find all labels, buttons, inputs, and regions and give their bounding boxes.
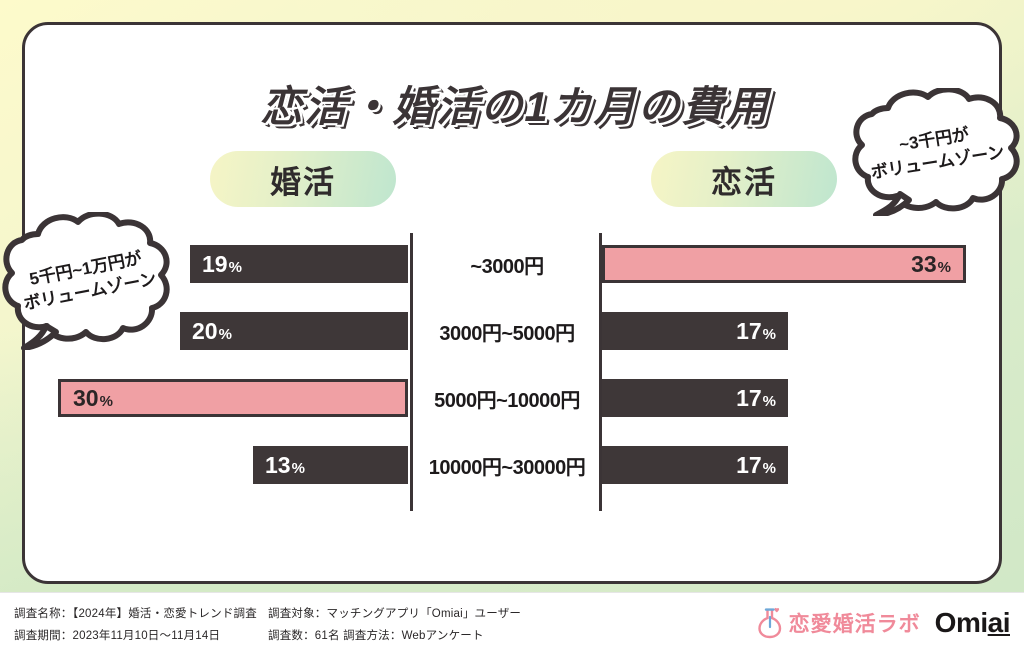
omiai-logo-text-a: Omi	[935, 607, 988, 638]
bar-left-1-value: 20%	[192, 320, 232, 343]
survey-meta-col-1: 調査名称：【2024年】婚活・恋愛トレンド調査 調査期間：2023年11月10日…	[14, 603, 257, 648]
renai-konkatsu-lab-logo: 恋愛婚活ラボ	[757, 607, 921, 639]
callout-bubble-left: 5千円~1万円が ボリュームゾーン	[2, 212, 174, 350]
infographic-stage: 恋活・婚活の1カ月の費用 婚活 恋活 19% ~3000円 33%	[0, 0, 1024, 657]
bar-left-2-value: 30%	[73, 387, 113, 410]
bar-right-2: 17%	[602, 379, 788, 417]
category-label-0: ~3000円	[413, 233, 601, 295]
category-label-1: 3000円~5000円	[413, 300, 601, 362]
category-label-3: 10000円~30000円	[413, 434, 601, 496]
survey-name: 調査名称：【2024年】婚活・恋愛トレンド調査	[14, 603, 257, 625]
omiai-logo: Omiai	[935, 607, 1010, 639]
logo-group: 恋愛婚活ラボ Omiai	[757, 607, 1010, 639]
bar-left-3-value: 13%	[265, 454, 305, 477]
bar-right-0-value: 33%	[911, 253, 951, 276]
bar-left-1: 20%	[180, 312, 408, 350]
bar-right-3-value: 17%	[736, 454, 776, 477]
bar-right-3: 17%	[602, 446, 788, 484]
bar-right-0: 33%	[602, 245, 966, 283]
survey-meta-col-2: 調査対象：マッチングアプリ「Omiai」ユーザー 調査数：61名 調査方法：We…	[268, 603, 521, 648]
lab-logo-text: 恋愛婚活ラボ	[789, 608, 921, 638]
bar-right-1: 17%	[602, 312, 788, 350]
omiai-logo-text-b: ai	[988, 607, 1010, 638]
survey-period: 調査期間：2023年11月10日〜11月14日	[14, 625, 257, 647]
callout-bubble-right: ~3千円が ボリュームゾーン	[848, 88, 1024, 216]
bar-left-0: 19%	[190, 245, 408, 283]
survey-count-method: 調査数：61名 調査方法：Webアンケート	[268, 625, 521, 647]
bar-left-0-value: 19%	[202, 253, 242, 276]
chart-row: 13% 10000円~30000円 17%	[25, 434, 1005, 496]
category-label-2: 5000円~10000円	[413, 367, 601, 429]
bar-right-1-value: 17%	[736, 320, 776, 343]
bar-right-2-value: 17%	[736, 387, 776, 410]
footer: 調査名称：【2024年】婚活・恋愛トレンド調査 調査期間：2023年11月10日…	[0, 592, 1024, 658]
chart-row: 30% 5000円~10000円 17%	[25, 367, 1005, 429]
survey-target: 調査対象：マッチングアプリ「Omiai」ユーザー	[268, 603, 521, 625]
flask-icon	[757, 607, 783, 639]
bar-left-3: 13%	[253, 446, 408, 484]
bar-left-2: 30%	[58, 379, 408, 417]
